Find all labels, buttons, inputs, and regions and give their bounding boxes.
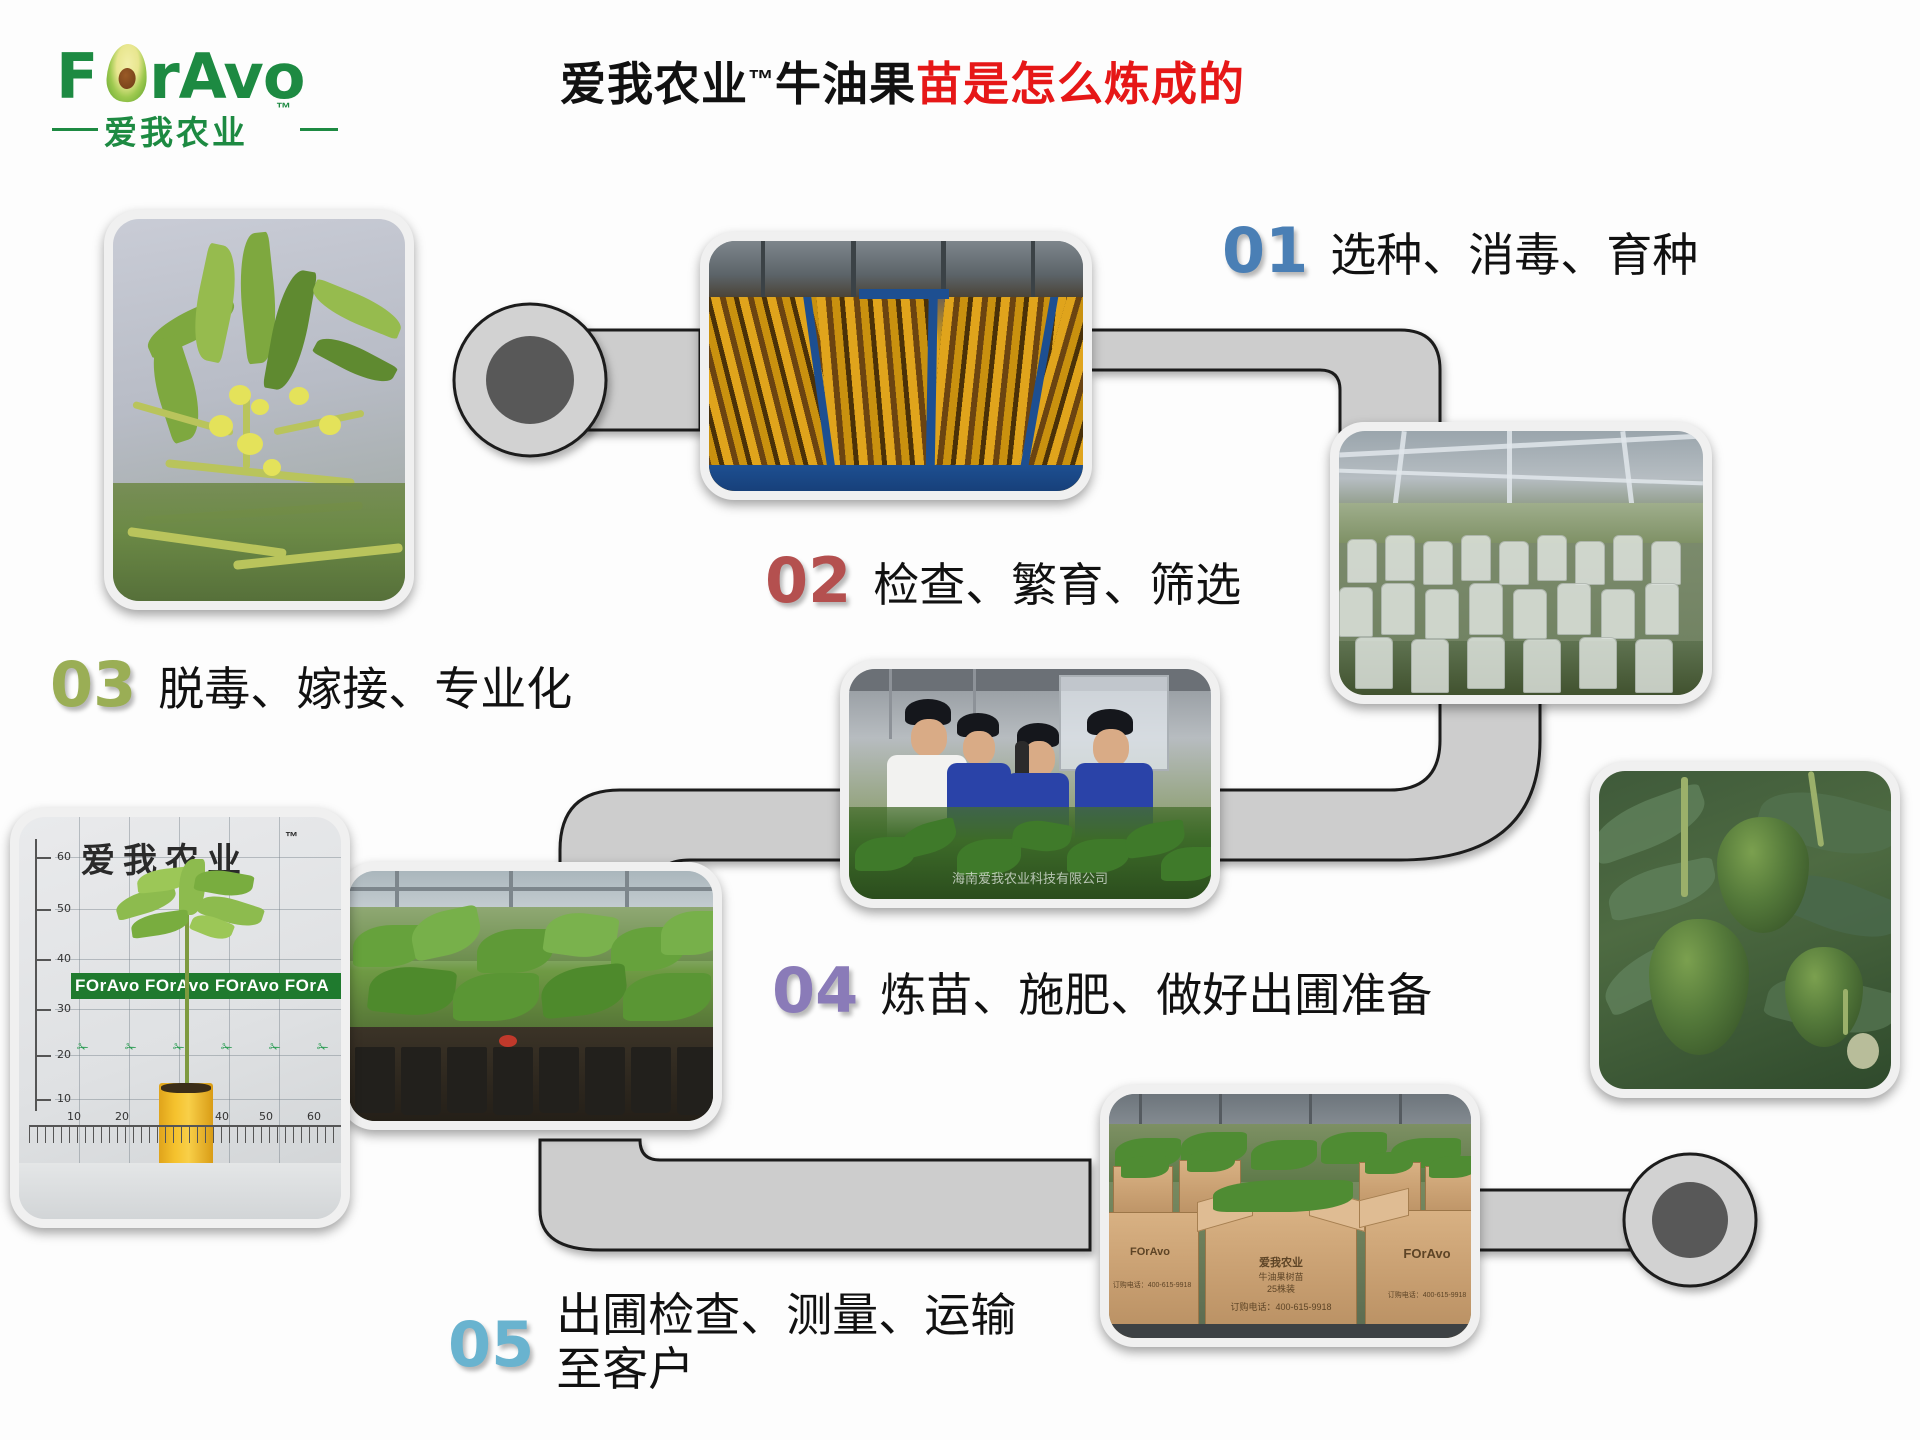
- photo-measurement-board: 爱我农业 ™ FOrAvo FOrAvo FOrAvo FOrA 60 50 4…: [19, 817, 341, 1219]
- photo-tile-flowers[interactable]: [104, 210, 414, 610]
- logo-rule-right: [300, 128, 338, 131]
- photo-packing-boxes: FOrAvo 订购电话：400-615-9918 爱我农业 牛油果树苗 25株装…: [1109, 1094, 1471, 1338]
- step-label-02: 02 检查、繁育、筛选: [765, 552, 1241, 612]
- box-phone-text: 订购电话：400-615-9918: [1205, 1300, 1357, 1313]
- step-label-01: 01 选种、消毒、育种: [1222, 222, 1698, 282]
- title-part-brand: 爱我农业: [560, 58, 748, 110]
- photo-tile-inspection-team[interactable]: 海南爱我农业科技有限公司: [840, 660, 1220, 908]
- start-node-dot: [486, 336, 574, 424]
- step-number-04: 04: [772, 962, 858, 1021]
- ruler-x-40: 40: [215, 1110, 229, 1123]
- title-trademark: ™: [748, 64, 775, 94]
- step-number-02: 02: [765, 552, 851, 611]
- photo-tile-seed-trays[interactable]: [700, 232, 1092, 500]
- ruler-y-60: 60: [57, 850, 71, 863]
- step-number-05: 05: [448, 1282, 534, 1375]
- process-end-node[interactable]: [1624, 1154, 1756, 1286]
- photo-flowers: [113, 219, 405, 601]
- photo-potted-seedlings: [349, 871, 713, 1121]
- step-number-01: 01: [1222, 222, 1308, 281]
- photo-tile-avocado-fruit[interactable]: [1590, 762, 1900, 1098]
- process-start-node[interactable]: [454, 304, 606, 456]
- logo-trademark: ™: [276, 100, 291, 117]
- title-part-product: 牛油果: [775, 58, 916, 110]
- box-side-logo: FOrAvo: [1111, 1246, 1189, 1258]
- step-label-05: 05 出圃检查、测量、运输 至客户: [448, 1282, 1016, 1397]
- logo-rule-left: [52, 128, 98, 131]
- ruler-y-30: 30: [57, 1002, 71, 1015]
- title-part-highlight: 苗是怎么炼成的: [916, 58, 1245, 110]
- box-side-phone: 订购电话：400-615-9918: [1109, 1280, 1197, 1290]
- ruler-x-10: 10: [67, 1110, 81, 1123]
- step-label-03: 03 脱毒、嫁接、专业化: [50, 656, 572, 716]
- step-text-03: 脱毒、嫁接、专业化: [158, 656, 572, 716]
- board-foravo-band: FOrAvo FOrAvo FOrAvo FOrA: [71, 973, 341, 999]
- ruler-y-50: 50: [57, 902, 71, 915]
- infographic-canvas: FOrAvo 爱我农业 ™ 爱我农业™牛油果苗是怎么炼成的: [0, 0, 1920, 1440]
- box-brand-text: 爱我农业: [1205, 1254, 1357, 1270]
- step-text-04: 炼苗、施肥、做好出圃准备: [880, 962, 1432, 1022]
- avocado-pit-icon: [118, 67, 136, 89]
- photo-tile-potted-seedlings[interactable]: [340, 862, 722, 1130]
- board-trademark: ™: [285, 829, 298, 844]
- ruler-x-20: 20: [115, 1110, 129, 1123]
- brand-logo[interactable]: FOrAvo 爱我农业 ™: [48, 30, 338, 150]
- ruler-x-50: 50: [259, 1110, 273, 1123]
- photo-seed-trays: [709, 241, 1083, 491]
- step-number-03: 03: [50, 656, 136, 715]
- photo-inspection-team: 海南爱我农业科技有限公司: [849, 669, 1211, 899]
- box-qty-text: 25株装: [1205, 1282, 1357, 1295]
- step-label-04: 04 炼苗、施肥、做好出圃准备: [772, 962, 1432, 1022]
- logo-wordmark: FOrAvo: [56, 40, 304, 113]
- ruler-y-40: 40: [57, 952, 71, 965]
- ruler-x-60: 60: [307, 1110, 321, 1123]
- ribbon-seg-3-4: [540, 1140, 1090, 1250]
- step-text-05: 出圃检查、测量、运输 至客户: [556, 1282, 1016, 1397]
- logo-chinese-name: 爱我农业: [104, 106, 248, 154]
- avocado-fruit-2: [1649, 919, 1749, 1055]
- photo-watermark: 海南爱我农业科技有限公司: [952, 868, 1108, 887]
- step-text-01: 选种、消毒、育种: [1330, 222, 1698, 282]
- photo-tile-nursery-bags[interactable]: [1330, 422, 1712, 704]
- box-right-phone: 订购电话：400-615-9918: [1367, 1290, 1471, 1300]
- step-text-02: 检查、繁育、筛选: [873, 552, 1241, 612]
- photo-tile-packing-boxes[interactable]: FOrAvo 订购电话：400-615-9918 爱我农业 牛油果树苗 25株装…: [1100, 1085, 1480, 1347]
- page-title: 爱我农业™牛油果苗是怎么炼成的: [560, 48, 1245, 114]
- ruler-y-20: 20: [57, 1048, 71, 1061]
- photo-avocado-fruit: [1599, 771, 1891, 1089]
- ruler-y-10: 10: [57, 1092, 71, 1105]
- photo-nursery-bags: [1339, 431, 1703, 695]
- end-node-dot: [1652, 1182, 1728, 1258]
- photo-tile-measurement-board[interactable]: 爱我农业 ™ FOrAvo FOrAvo FOrAvo FOrA 60 50 4…: [10, 808, 350, 1228]
- box-right-logo: FOrAvo: [1371, 1246, 1471, 1261]
